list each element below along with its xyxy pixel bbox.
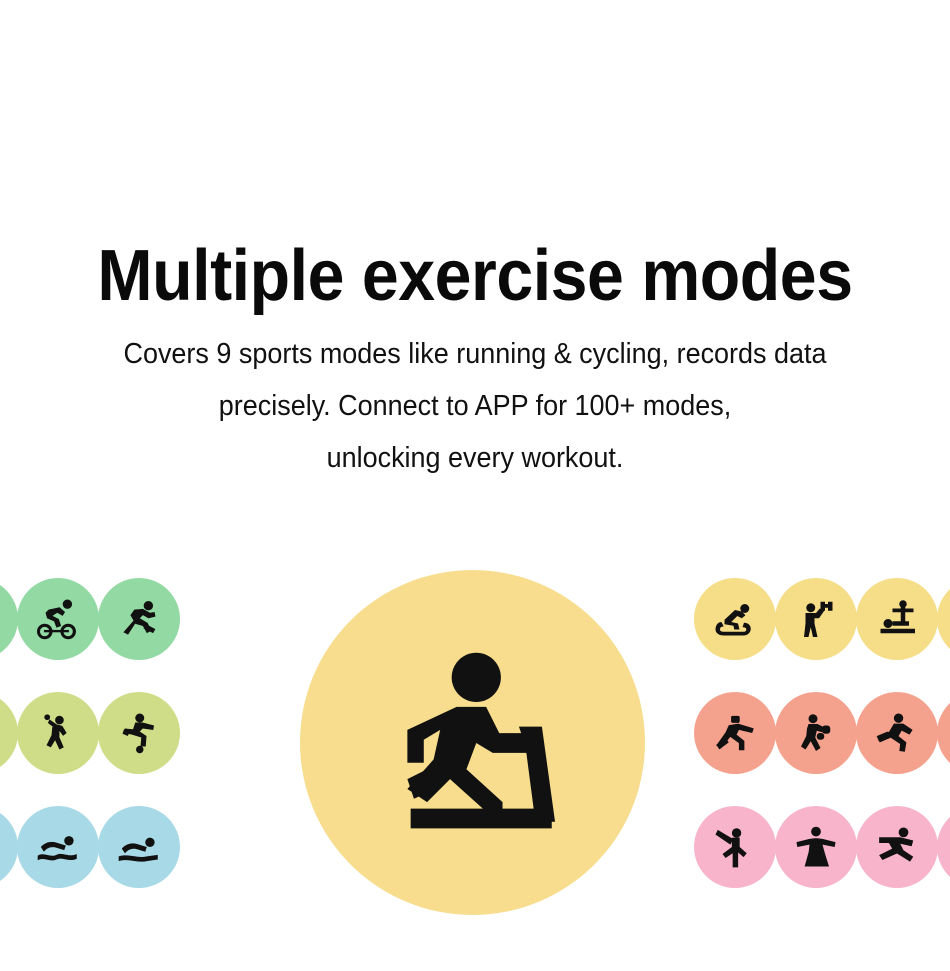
icon-bench-press-icon-extra[interactable] (937, 578, 950, 660)
icon-spinning-bike-icon[interactable] (694, 578, 776, 660)
icon-bench-press-icon[interactable] (856, 578, 938, 660)
hero-treadmill-circle[interactable] (300, 570, 645, 915)
icon-boxing-icon[interactable] (775, 692, 857, 774)
yoga-pose-icon (710, 822, 760, 872)
basketball-icon (35, 710, 81, 756)
icon-swimming-icon[interactable] (17, 806, 99, 888)
stair-climbing-icon (0, 595, 1, 643)
open-water-swim-icon (114, 822, 164, 872)
description-line-2: precisely. Connect to APP for 100+ modes… (70, 380, 879, 432)
swimming-icon (33, 822, 83, 872)
rowing-icon (0, 822, 2, 872)
gymnastics-icon (871, 821, 923, 873)
icon-gymnastics-icon[interactable] (856, 806, 938, 888)
icon-martial-arts-icon[interactable] (694, 692, 776, 774)
kickboxing-icon (872, 708, 922, 758)
description-line-3: unlocking every workout. (70, 432, 879, 484)
icon-dancing-icon[interactable] (775, 806, 857, 888)
description-line-1: Covers 9 sports modes like running & cyc… (70, 328, 879, 380)
icon-running-icon[interactable] (98, 578, 180, 660)
boxing-icon (792, 709, 840, 757)
cycling-icon (33, 594, 83, 644)
icon-stair-climbing-icon[interactable] (0, 578, 18, 660)
bench-press-icon (873, 595, 921, 643)
icon-yoga-pose-icon[interactable] (694, 806, 776, 888)
icon-gymnastics-icon-extra[interactable] (937, 806, 950, 888)
martial-arts-icon (710, 708, 760, 758)
icon-dumbbell-lifting-icon[interactable] (775, 578, 857, 660)
icon-rowing-icon[interactable] (0, 806, 18, 888)
soccer-icon (115, 709, 163, 757)
icon-kickboxing-icon[interactable] (856, 692, 938, 774)
running-icon (114, 594, 164, 644)
page-title: Multiple exercise modes (38, 240, 912, 312)
icon-cycling-icon[interactable] (17, 578, 99, 660)
icon-basketball-icon[interactable] (17, 692, 99, 774)
treadmill-running-icon (368, 638, 578, 848)
spinning-bike-icon (711, 595, 759, 643)
page-description: Covers 9 sports modes like running & cyc… (70, 328, 879, 484)
icon-badminton-icon[interactable] (0, 692, 18, 774)
icon-kickboxing-icon-extra[interactable] (937, 692, 950, 774)
exercise-modes-promo-panel: Multiple exercise modes Covers 9 sports … (0, 0, 950, 971)
icon-open-water-swim-icon[interactable] (98, 806, 180, 888)
dancing-icon (790, 821, 842, 873)
dumbbell-lifting-icon (792, 595, 840, 643)
icon-soccer-icon[interactable] (98, 692, 180, 774)
